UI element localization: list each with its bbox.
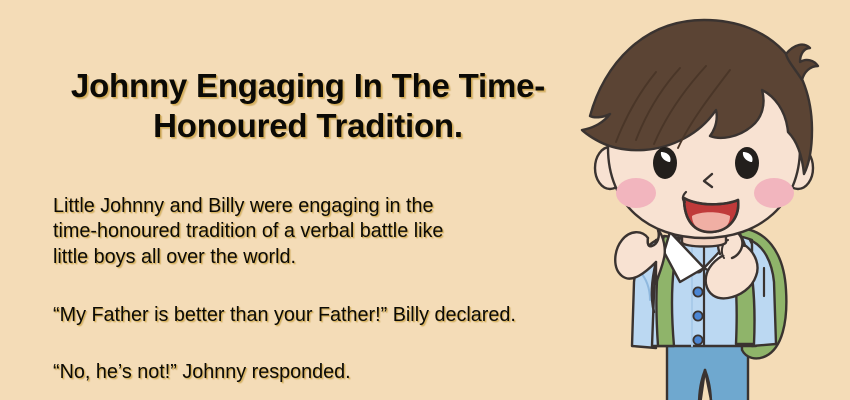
body-paragraph-billy-line: “My Father is better than your Father!” … [53,302,593,328]
body-paragraph-intro: Little Johnny and Billy were engaging in… [53,193,555,270]
page-title: Johnny Engaging In The Time-Honoured Tra… [52,66,564,146]
pants [667,340,748,400]
poster-canvas: Johnny Engaging In The Time-Honoured Tra… [0,0,850,400]
body-paragraph-johnny-line: “No, he’s not!” Johnny responded. [53,359,555,385]
text-column: Johnny Engaging In The Time-Honoured Tra… [0,0,615,400]
schoolboy-illustration [560,0,850,400]
